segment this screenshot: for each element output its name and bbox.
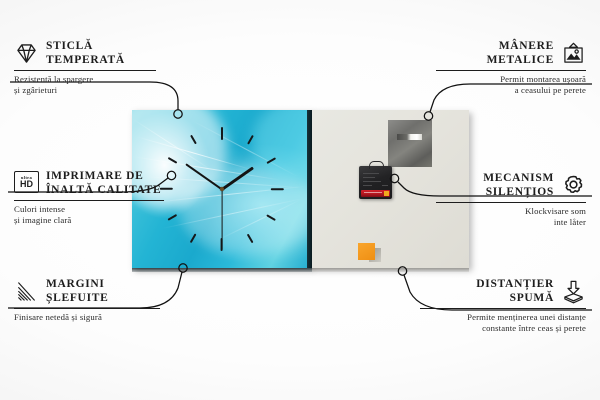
hanger-slot xyxy=(397,134,422,140)
callout-divider xyxy=(14,70,156,71)
callout-sub-line2: constante între ceas și perete xyxy=(420,323,586,334)
foam-spacer-pad xyxy=(358,243,375,260)
callout-foam-spacer: DISTANȚIER SPUMĂ Permite menținerea unei… xyxy=(420,278,586,333)
callout-title-line2: ȘLEFUITE xyxy=(46,292,108,306)
gear-icon xyxy=(561,173,586,198)
callout-divider xyxy=(436,70,586,71)
infographic-stage: STICLĂ TEMPERATĂ Rezistentă la spargere … xyxy=(0,0,600,400)
clock-mechanism xyxy=(359,166,392,199)
callout-divider xyxy=(14,200,164,201)
callout-title-line1: DISTANȚIER xyxy=(476,278,554,292)
back-panel-shadow xyxy=(312,268,469,272)
battery-plus-terminal xyxy=(384,191,389,196)
callout-sub-line1: Finisare netedă și sigură xyxy=(14,312,164,323)
callout-tempered-glass: STICLĂ TEMPERATĂ Rezistentă la spargere … xyxy=(14,40,164,95)
callout-title-line1: MECANISM xyxy=(483,172,554,186)
callout-metal-handles: MÂNERE METALICE Permit montarea ușoară a… xyxy=(436,40,586,95)
callout-sub-line2: inte låter xyxy=(436,217,586,228)
ultra-hd-icon: ultra HD xyxy=(14,171,39,196)
clock-bottom-shadow xyxy=(132,268,312,272)
callout-title-line1: IMPRIMARE DE xyxy=(46,170,161,184)
callout-polished-edges: MARGINI ȘLEFUITE Finisare netedă și sigu… xyxy=(14,278,164,323)
product-image xyxy=(132,110,469,268)
callout-title-line2: METALICE xyxy=(487,54,554,68)
diamond-icon xyxy=(14,41,39,66)
callout-divider xyxy=(436,202,586,203)
callout-sub-line1: Culori intense xyxy=(14,204,169,215)
callout-sub-line1: Rezistentă la spargere xyxy=(14,74,164,85)
mechanism-hook xyxy=(369,161,384,169)
callout-divider xyxy=(14,308,160,309)
callout-title-line2: TEMPERATĂ xyxy=(46,54,125,68)
beveled-edge-icon xyxy=(14,279,39,304)
callout-divider xyxy=(420,308,586,309)
callout-silent-mechanism: MECANISM SILENȚIOS Klockvisare som inte … xyxy=(436,172,586,227)
callout-sub-line2: și imagine clară xyxy=(14,215,169,226)
callout-title-line2: SILENȚIOS xyxy=(483,186,554,200)
callout-sub-line2: și zgârieturi xyxy=(14,85,164,96)
clock-center-pin xyxy=(220,187,224,191)
hour-mark xyxy=(221,127,223,140)
callout-sub-line2: a ceasului pe perete xyxy=(436,85,586,96)
battery xyxy=(361,190,390,197)
callout-title-line1: STICLĂ xyxy=(46,40,125,54)
foam-spacer-icon xyxy=(561,279,586,304)
picture-frame-icon xyxy=(561,41,586,66)
callout-title-line2: SPUMĂ xyxy=(476,292,554,306)
callout-sub-line1: Klockvisare som xyxy=(436,206,586,217)
callout-sub-line1: Permite menținerea unei distanțe xyxy=(420,312,586,323)
callout-sub-line1: Permit montarea ușoară xyxy=(436,74,586,85)
hour-mark xyxy=(271,188,284,190)
callout-title-line1: MÂNERE xyxy=(487,40,554,54)
metal-hanger-plate xyxy=(388,120,432,167)
callout-title-line1: MARGINI xyxy=(46,278,108,292)
callout-title-line2: ÎNALTĂ CALITATE xyxy=(46,184,161,198)
clock-second-hand xyxy=(221,189,222,249)
callout-hd-print: ultra HD IMPRIMARE DE ÎNALTĂ CALITATE Cu… xyxy=(14,170,169,225)
ultra-hd-main-label: HD xyxy=(20,180,33,190)
